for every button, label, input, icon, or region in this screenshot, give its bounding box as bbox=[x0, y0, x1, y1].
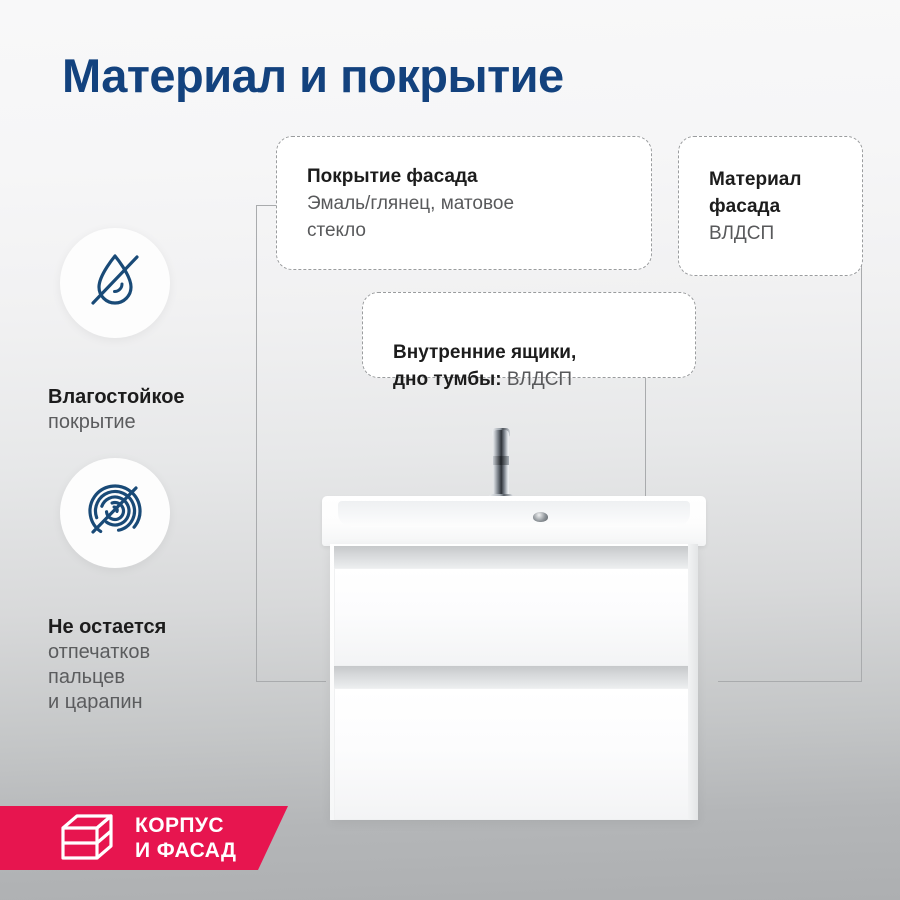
sink-basin-inner bbox=[338, 501, 690, 527]
corpus-and-facade-banner: КОРПУС И ФАСАД bbox=[0, 806, 288, 870]
cabinet-side-panel bbox=[688, 544, 698, 820]
feature-no-fingerprints: Не остаетсяотпечатков пальцев и царапин bbox=[48, 458, 258, 715]
connector-left-stub bbox=[256, 205, 278, 206]
vanity-cabinet bbox=[330, 544, 698, 820]
feature-water-resistant: Влагостойкоепокрытие bbox=[48, 228, 258, 435]
cabinet-upper-drawer bbox=[334, 568, 694, 666]
card-facade-coating-body: Эмаль/глянец, матовое стекло bbox=[307, 190, 651, 244]
cabinet-lower-drawer bbox=[334, 688, 694, 820]
feature-no-fingerprints-bubble bbox=[60, 458, 170, 568]
card-inner-drawers-combined: Внутренние ящики, дно тумбы: ВЛДСП bbox=[393, 312, 693, 393]
connector-right-vertical bbox=[861, 205, 862, 682]
connector-right-horizontal bbox=[718, 681, 862, 682]
sink-overflow-hole bbox=[533, 512, 548, 522]
infographic-canvas: Материал и покрытие Покрытие фасада Эмал… bbox=[0, 0, 900, 900]
fingerprint-crossed-icon bbox=[78, 474, 152, 553]
faucet-band bbox=[493, 456, 509, 465]
banner-text: КОРПУС И ФАСАД bbox=[135, 813, 236, 863]
cabinet-middle-gap bbox=[334, 666, 694, 688]
bathroom-vanity-illustration bbox=[316, 430, 712, 820]
water-drop-crossed-icon bbox=[78, 244, 152, 323]
banner-line-2: И ФАСАД bbox=[135, 838, 236, 863]
feature-water-resistant-caption: Влагостойкоепокрытие bbox=[48, 360, 258, 435]
card-facade-material-heading: Материал фасада bbox=[709, 166, 862, 220]
feature-no-fingerprints-subtitle: отпечатков пальцев и царапин bbox=[48, 641, 150, 713]
card-facade-material-body: ВЛДСП bbox=[709, 220, 862, 247]
feature-no-fingerprints-title: Не остается bbox=[48, 615, 258, 640]
page-title: Материал и покрытие bbox=[62, 48, 564, 103]
banner-line-1: КОРПУС bbox=[135, 813, 236, 838]
feature-water-resistant-bubble bbox=[60, 228, 170, 338]
card-facade-coating: Покрытие фасада Эмаль/глянец, матовое ст… bbox=[276, 136, 652, 270]
cabinet-box-icon bbox=[55, 810, 117, 866]
cabinet-top-gap bbox=[334, 546, 694, 568]
feature-no-fingerprints-caption: Не остаетсяотпечатков пальцев и царапин bbox=[48, 590, 258, 715]
feature-water-resistant-title: Влагостойкое bbox=[48, 385, 258, 410]
card-inner-drawers-value-text: ВЛДСП bbox=[502, 369, 572, 390]
card-facade-material: Материал фасада ВЛДСП bbox=[678, 136, 863, 276]
feature-water-resistant-subtitle: покрытие bbox=[48, 411, 136, 433]
sink-basin bbox=[322, 496, 706, 546]
faucet-body bbox=[493, 430, 509, 500]
card-inner-drawers: Внутренние ящики, дно тумбы: Внутренние … bbox=[362, 292, 696, 378]
card-facade-coating-heading: Покрытие фасада bbox=[307, 163, 651, 190]
